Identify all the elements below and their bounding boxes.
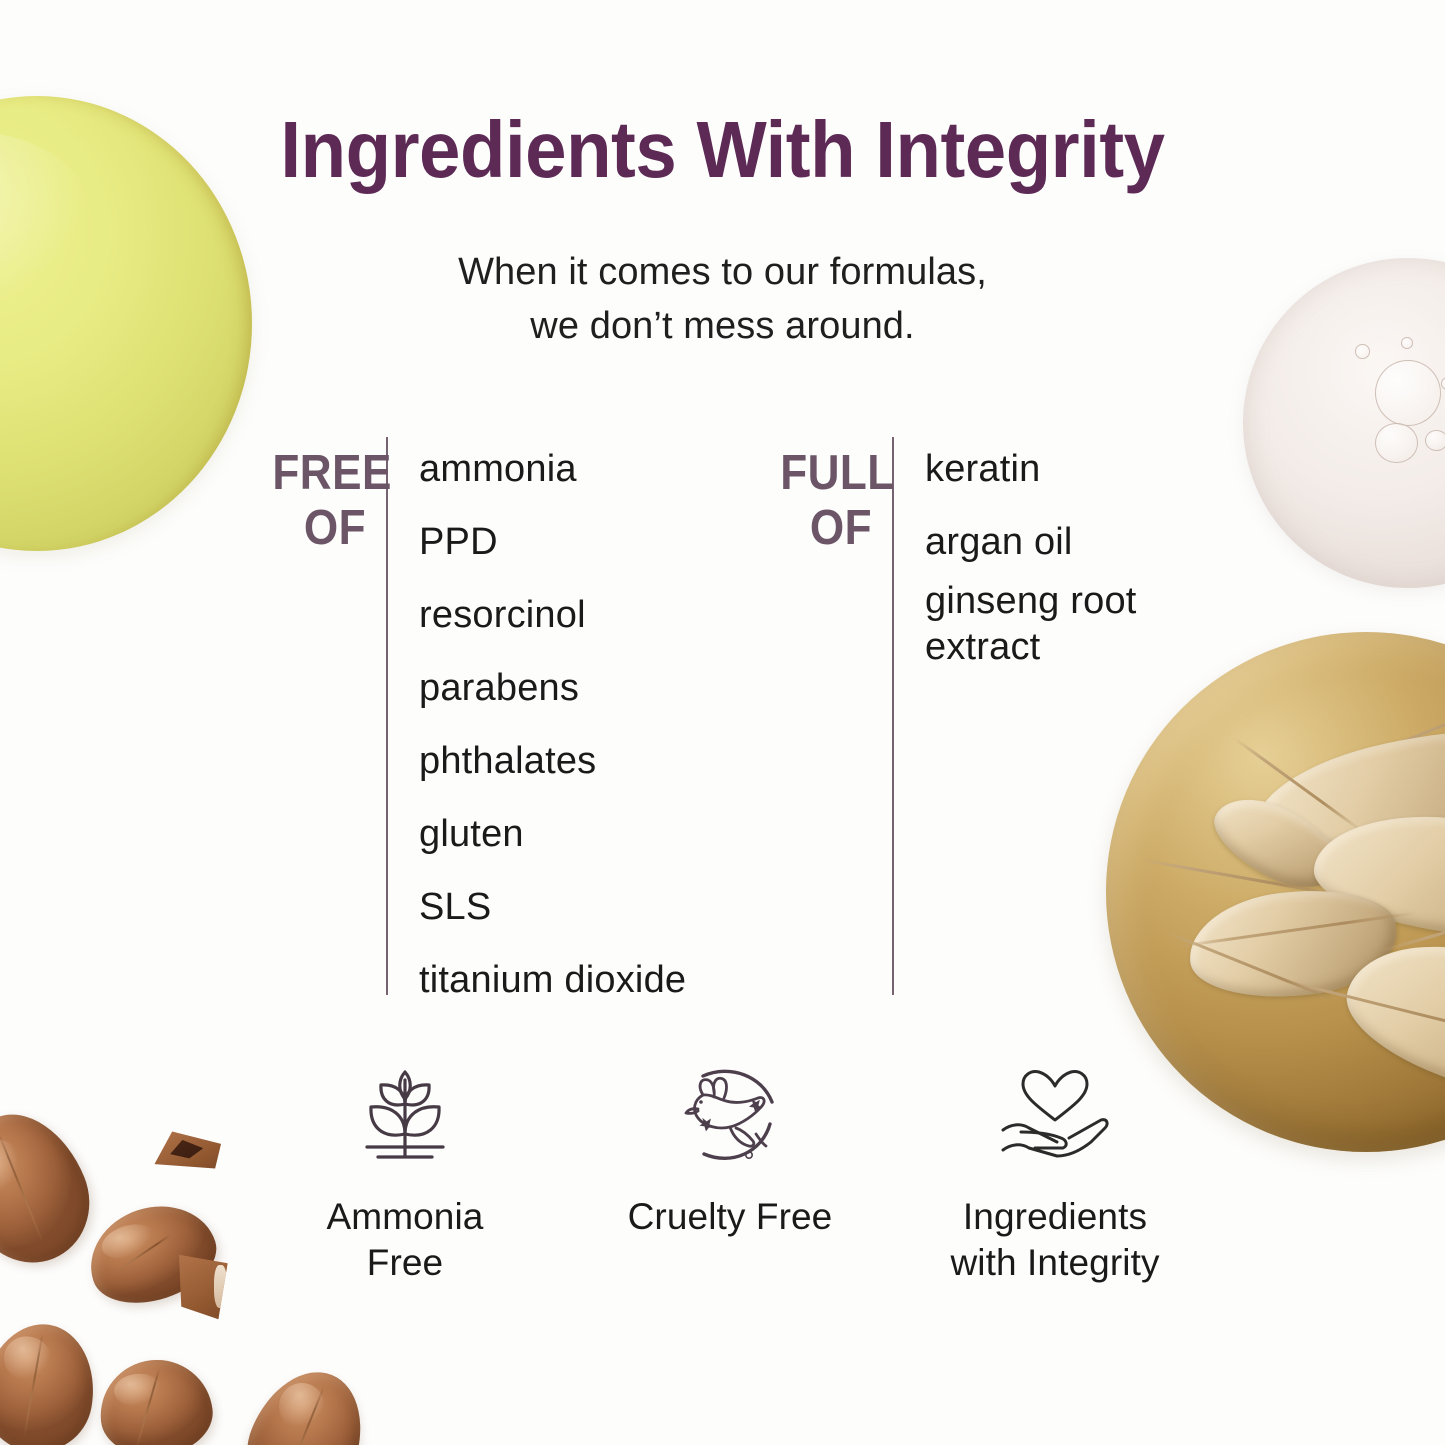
list-item: keratin — [925, 432, 1225, 505]
full-of-list: keratin argan oil ginseng root extract — [925, 432, 1225, 671]
list-item: ginseng root extract — [925, 578, 1225, 671]
leaping-bunny-icon — [670, 1058, 790, 1178]
gel-bubble — [1425, 430, 1445, 451]
list-item: resorcinol — [419, 578, 759, 651]
full-of-column: FULL OF keratin argan oil ginseng root e… — [770, 432, 1222, 1002]
badge-label-line-1: Cruelty Free — [628, 1194, 833, 1240]
argan-nut — [95, 1354, 216, 1445]
free-of-list: ammonia PPD resorcinol parabens phthalat… — [419, 432, 759, 1016]
list-item: titanium dioxide — [419, 943, 759, 1016]
badge-label: Cruelty Free — [628, 1194, 833, 1240]
argan-nut — [0, 1315, 104, 1445]
ingredient-columns: FREE OF ammonia PPD resorcinol parabens … — [262, 432, 1222, 1002]
list-item: ammonia — [419, 432, 759, 505]
free-of-column: FREE OF ammonia PPD resorcinol parabens … — [262, 432, 762, 1002]
full-of-label-line-2: OF — [780, 501, 872, 556]
gel-bubble — [1441, 377, 1445, 390]
list-item: PPD — [419, 505, 759, 578]
subtitle-line-2: we don’t mess around. — [0, 300, 1445, 354]
infographic-canvas: Ingredients With Integrity When it comes… — [0, 0, 1445, 1445]
badge-ammonia-free: Ammonia Free — [255, 1058, 555, 1358]
page-title: Ingredients With Integrity — [51, 110, 1395, 190]
badge-label-line-1: Ammonia — [327, 1194, 484, 1240]
badge-label-line-1: Ingredients — [950, 1194, 1159, 1240]
free-of-label-line-1: FREE — [272, 446, 366, 501]
gel-bubble — [1375, 360, 1441, 426]
gel-bubble — [1375, 423, 1418, 463]
badge-label-line-2: Free — [327, 1240, 484, 1286]
full-of-divider — [892, 437, 894, 995]
sprout-plant-icon — [345, 1058, 465, 1178]
argan-nut — [230, 1355, 382, 1445]
list-item: SLS — [419, 870, 759, 943]
list-item: parabens — [419, 651, 759, 724]
certification-badges: Ammonia Free — [255, 1058, 1205, 1358]
subtitle-line-1: When it comes to our formulas, — [0, 246, 1445, 300]
cracked-argan-shell — [172, 1252, 230, 1322]
badge-ingredients-with-integrity: Ingredients with Integrity — [905, 1058, 1205, 1358]
full-of-label: FULL OF — [780, 446, 872, 556]
free-of-divider — [386, 437, 388, 995]
list-item: gluten — [419, 797, 759, 870]
page-subtitle: When it comes to our formulas, we don’t … — [0, 246, 1445, 354]
free-of-label: FREE OF — [272, 446, 366, 556]
free-of-label-line-2: OF — [272, 501, 366, 556]
heart-in-hand-icon — [995, 1058, 1115, 1178]
full-of-label-line-1: FULL — [780, 446, 872, 501]
badge-label: Ingredients with Integrity — [950, 1194, 1159, 1286]
list-item: argan oil — [925, 505, 1225, 578]
badge-label-line-2: with Integrity — [950, 1240, 1159, 1286]
badge-label: Ammonia Free — [327, 1194, 484, 1286]
cracked-argan-shell — [150, 1128, 224, 1172]
list-item: phthalates — [419, 724, 759, 797]
badge-cruelty-free: Cruelty Free — [580, 1058, 880, 1358]
